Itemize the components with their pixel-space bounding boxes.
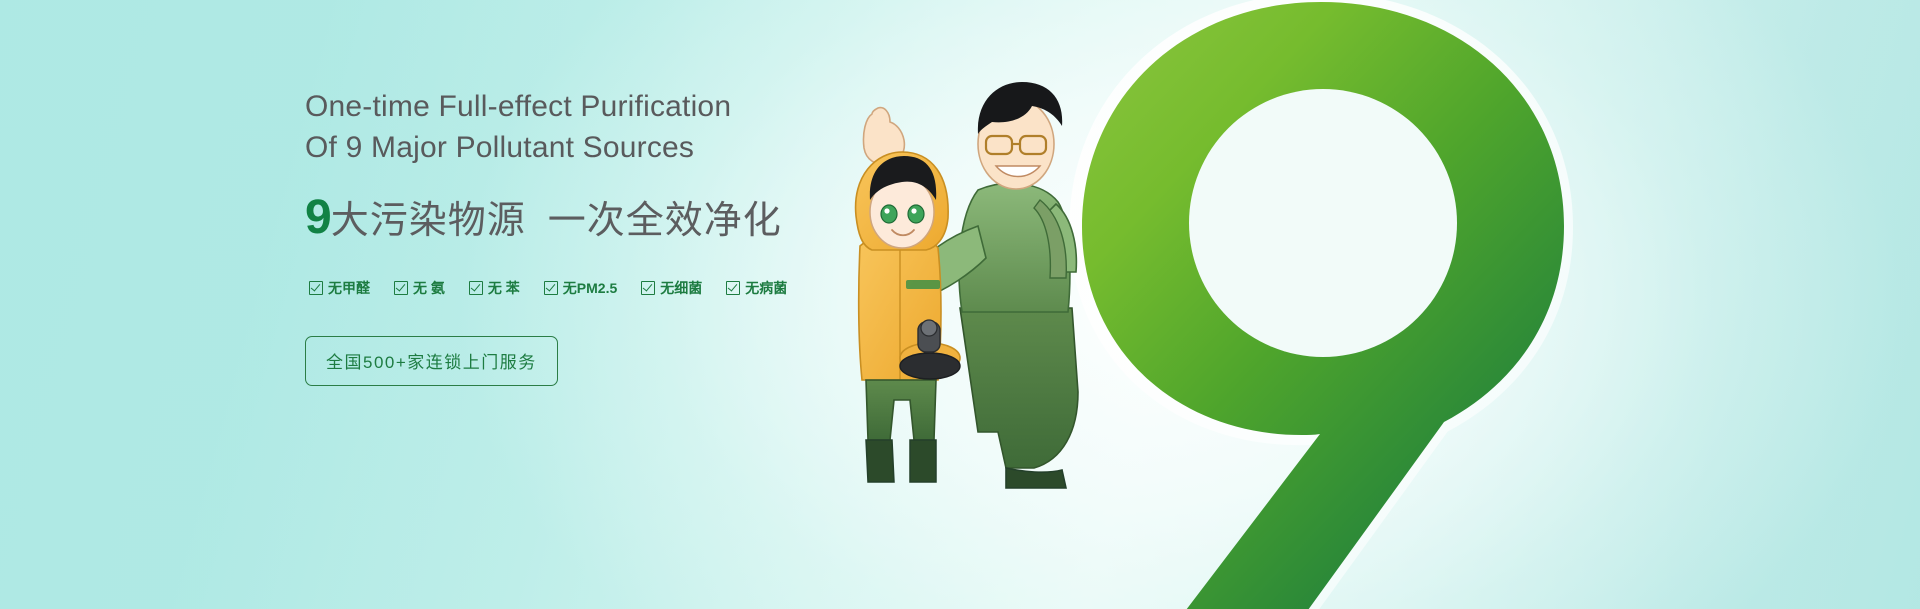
headline-chinese-part1: 大污染物源	[331, 202, 526, 240]
checkbox-tick-icon	[726, 281, 740, 295]
banner-eyebrow-english: One-time Full-effect Purification Of 9 M…	[305, 86, 925, 168]
checkbox-tick-icon	[469, 281, 483, 295]
checkbox-tick-icon	[544, 281, 558, 295]
checkbox-tick-icon	[641, 281, 655, 295]
promo-banner: One-time Full-effect Purification Of 9 M…	[0, 0, 1920, 609]
feature-item: 无病菌	[726, 278, 787, 298]
headline-number: 9	[305, 194, 331, 242]
feature-label: 无PM2.5	[563, 278, 617, 298]
checkbox-tick-icon	[309, 281, 323, 295]
feature-item: 无PM2.5	[544, 278, 617, 298]
feature-label: 无甲醛	[328, 278, 370, 298]
feature-label: 无 苯	[488, 278, 520, 298]
nationwide-service-button[interactable]: 全国500+家连锁上门服务	[305, 336, 558, 386]
feature-item: 无 苯	[469, 278, 520, 298]
feature-item: 无 氨	[394, 278, 445, 298]
feature-list: 无甲醛 无 氨 无 苯 无PM2.5 无细菌 无病菌	[309, 278, 925, 298]
feature-item: 无甲醛	[309, 278, 370, 298]
banner-headline: 9 大污染物源 一次全效净化	[305, 194, 925, 242]
banner-copy: One-time Full-effect Purification Of 9 M…	[305, 86, 925, 386]
checkbox-tick-icon	[394, 281, 408, 295]
feature-label: 无细菌	[660, 278, 702, 298]
feature-item: 无细菌	[641, 278, 702, 298]
feature-label: 无病菌	[745, 278, 787, 298]
feature-label: 无 氨	[413, 278, 445, 298]
headline-chinese-part2: 一次全效净化	[548, 202, 782, 240]
